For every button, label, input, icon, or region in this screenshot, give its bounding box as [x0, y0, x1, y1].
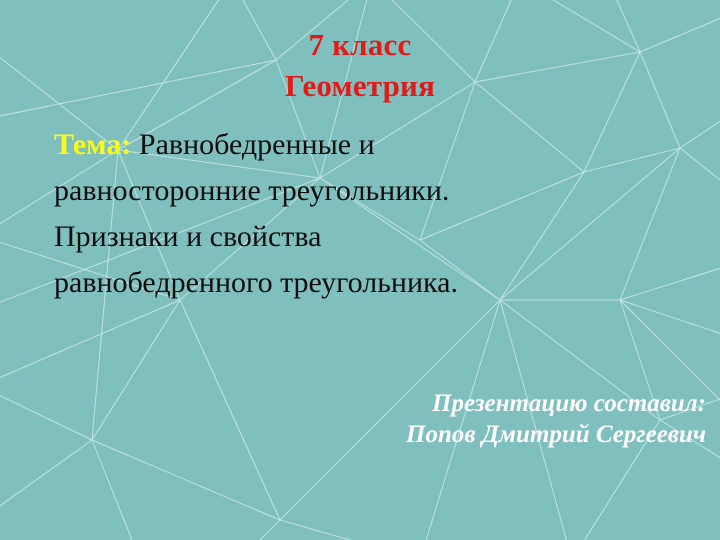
- credit-line-prepared-by: Презентацию составил:: [0, 388, 706, 419]
- slide-heading: 7 класс Геометрия: [0, 24, 720, 106]
- topic-line-1-text: Равнобедренные и: [131, 128, 374, 161]
- topic-line-4: равнобедренного треугольника.: [54, 260, 694, 306]
- topic-label: Тема:: [54, 128, 131, 161]
- topic-line-3: Признаки и свойства: [54, 214, 694, 260]
- topic-line-1: Тема: Равнобедренные и: [54, 122, 694, 168]
- slide-content: 7 класс Геометрия Тема: Равнобедренные и…: [0, 0, 720, 540]
- presentation-title-slide: 7 класс Геометрия Тема: Равнобедренные и…: [0, 0, 720, 540]
- topic-block: Тема: Равнобедренные и равносторонние тр…: [54, 122, 694, 306]
- credit-line-author-name: Попов Дмитрий Сергеевич: [0, 419, 706, 450]
- topic-line-2: равносторонние треугольники.: [54, 168, 694, 214]
- heading-line-grade: 7 класс: [0, 24, 720, 65]
- author-credit: Презентацию составил: Попов Дмитрий Серг…: [0, 388, 706, 450]
- heading-line-subject: Геометрия: [0, 65, 720, 106]
